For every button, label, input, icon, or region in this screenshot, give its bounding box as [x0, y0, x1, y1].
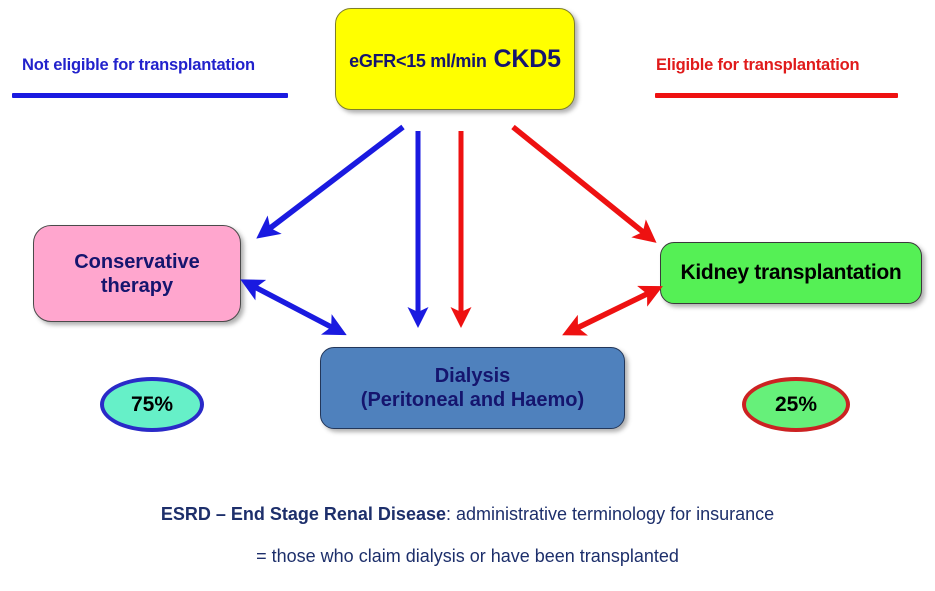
- diagram-canvas: Not eligible for transplantation Eligibl…: [0, 0, 935, 591]
- node-conservative-therapy: Conservativetherapy: [33, 225, 241, 322]
- label-eligible-for-transplantation: Eligible for transplantation: [656, 56, 859, 75]
- caption-esrd-note: = those who claim dialysis or have been …: [256, 546, 679, 566]
- dialysis-line-1: Dialysis: [435, 365, 511, 387]
- conservative-line-1: Conservative: [74, 251, 200, 273]
- dialysis-line-2: (Peritoneal and Haemo): [361, 389, 584, 411]
- caption-line-2: = those who claim dialysis or have been …: [0, 546, 935, 567]
- arrow-conservative-dialysis: [251, 285, 337, 330]
- node-ckd5: eGFR<15 ml/minCKD5: [335, 8, 575, 110]
- eligible-underline-rule: [655, 93, 898, 98]
- arrow-ckd5-to-conservative: [265, 127, 403, 232]
- caption-esrd-term: ESRD – End Stage Renal Disease: [161, 504, 446, 524]
- arrow-dialysis-kidney: [573, 291, 653, 330]
- ckd5-stage-text: CKD5: [494, 45, 561, 73]
- percentage-badge-conservative: 75%: [100, 377, 204, 432]
- node-dialysis: Dialysis(Peritoneal and Haemo): [320, 347, 625, 429]
- arrow-ckd5-to-kidney: [513, 127, 648, 236]
- not-eligible-underline-rule: [12, 93, 288, 98]
- kidney-label: Kidney transplantation: [681, 260, 902, 285]
- percentage-left-value: 75%: [131, 393, 173, 417]
- caption-esrd-definition: : administrative terminology for insuran…: [446, 504, 774, 524]
- ckd5-measure-text: eGFR<15 ml/min: [349, 51, 486, 71]
- percentage-badge-transplant: 25%: [742, 377, 850, 432]
- percentage-right-value: 25%: [775, 393, 817, 417]
- caption-line-1: ESRD – End Stage Renal Disease: administ…: [0, 504, 935, 525]
- node-kidney-transplantation: Kidney transplantation: [660, 242, 922, 304]
- conservative-line-2: therapy: [101, 275, 173, 297]
- label-not-eligible-for-transplantation: Not eligible for transplantation: [22, 56, 255, 75]
